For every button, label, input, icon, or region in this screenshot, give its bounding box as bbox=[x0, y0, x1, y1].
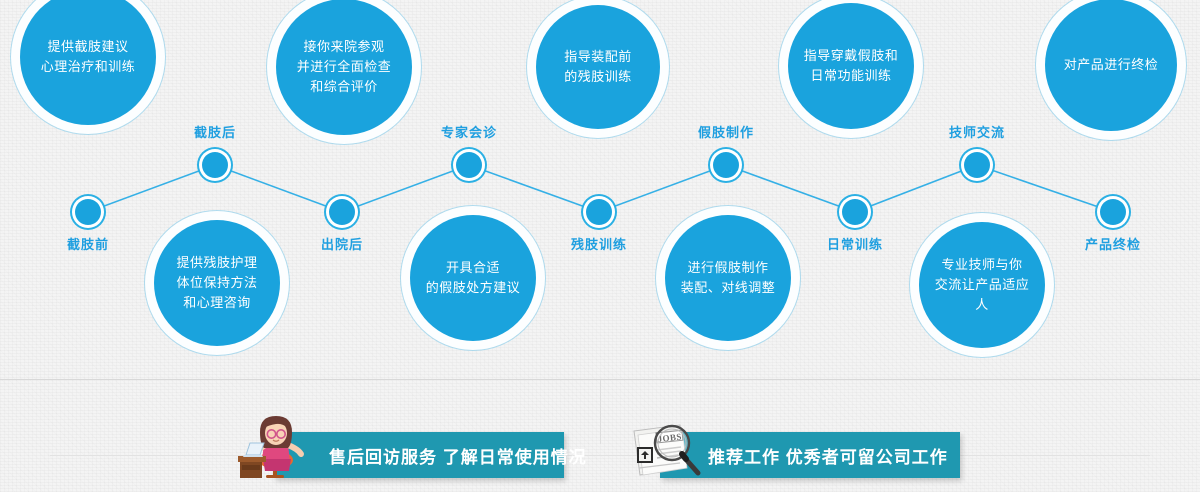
flow-node-daily-training[interactable] bbox=[842, 199, 868, 225]
bubble-prosthesis-manufacture[interactable]: 进行假肢制作 装配、对线调整 bbox=[665, 215, 791, 341]
bubble-text: 对产品进行终检 bbox=[1054, 55, 1169, 75]
bubble-text: 提供截肢建议 心理治疗和训练 bbox=[31, 37, 146, 77]
bubble-pre-fitting-training[interactable]: 指导装配前 的残肢训练 bbox=[536, 5, 660, 129]
bubble-text: 进行假肢制作 装配、对线调整 bbox=[671, 258, 786, 298]
banner-connector-line bbox=[50, 455, 1150, 456]
flow-node-label-expert-consult: 专家会诊 bbox=[415, 122, 523, 141]
banner-job-recommendation-label: 推荐工作 优秀者可留公司工作 bbox=[708, 443, 948, 468]
flow-node-expert-consult[interactable] bbox=[456, 152, 482, 178]
bubble-text: 开具合适 的假肢处方建议 bbox=[416, 258, 531, 298]
flow-node-stump-training[interactable] bbox=[586, 199, 612, 225]
flow-node-label-post-discharge: 出院后 bbox=[302, 234, 382, 253]
flow-node-label-stump-training: 残肢训练 bbox=[545, 234, 653, 253]
flow-node-technician-talk[interactable] bbox=[964, 152, 990, 178]
bubble-text: 接你来院参观 并进行全面检查 和综合评价 bbox=[287, 37, 402, 97]
bubble-wearing-guidance[interactable]: 指导穿戴假肢和 日常功能训练 bbox=[788, 3, 914, 129]
bubble-final-inspection[interactable]: 对产品进行终检 bbox=[1045, 0, 1177, 131]
bubble-stump-care[interactable]: 提供残肢护理 体位保持方法 和心理咨询 bbox=[154, 220, 280, 346]
flow-node-label-post-amputation: 截肢后 bbox=[175, 122, 255, 141]
woman-at-desk-icon bbox=[236, 412, 308, 480]
process-flow-diagram: 提供截肢建议 心理治疗和训练 提供残肢护理 体位保持方法 和心理咨询 接你来院参… bbox=[0, 0, 1200, 379]
banner-after-sales-label: 售后回访服务 了解日常使用情况 bbox=[329, 443, 587, 468]
flow-node-final-check[interactable] bbox=[1100, 199, 1126, 225]
bubble-text: 指导装配前 的残肢训练 bbox=[554, 47, 642, 87]
flow-node-label-technician-talk: 技师交流 bbox=[923, 122, 1031, 141]
bubble-text: 提供残肢护理 体位保持方法 和心理咨询 bbox=[166, 253, 267, 313]
flow-node-post-discharge[interactable] bbox=[329, 199, 355, 225]
flow-node-label-prosthesis-make: 假肢制作 bbox=[672, 122, 780, 141]
bubble-text: 指导穿戴假肢和 日常功能训练 bbox=[794, 46, 909, 86]
bubble-prescription[interactable]: 开具合适 的假肢处方建议 bbox=[410, 215, 536, 341]
flow-node-pre-amputation[interactable] bbox=[75, 199, 101, 225]
bubble-text: 专业技师与你 交流让产品适应人 bbox=[919, 255, 1045, 315]
flow-node-label-pre-amputation: 截肢前 bbox=[48, 234, 128, 253]
jobs-magnifier-icon: JOBS bbox=[628, 415, 708, 481]
bubble-hospital-visit[interactable]: 接你来院参观 并进行全面检查 和综合评价 bbox=[276, 0, 412, 135]
section-divider-vertical bbox=[600, 380, 601, 444]
flow-node-label-final-check: 产品终检 bbox=[1059, 234, 1167, 253]
banner-after-sales[interactable]: 售后回访服务 了解日常使用情况 bbox=[274, 432, 564, 478]
bubble-technician-exchange[interactable]: 专业技师与你 交流让产品适应人 bbox=[919, 222, 1045, 348]
flow-node-post-amputation[interactable] bbox=[202, 152, 228, 178]
flow-node-prosthesis-make[interactable] bbox=[713, 152, 739, 178]
flow-node-label-daily-training: 日常训练 bbox=[801, 234, 909, 253]
